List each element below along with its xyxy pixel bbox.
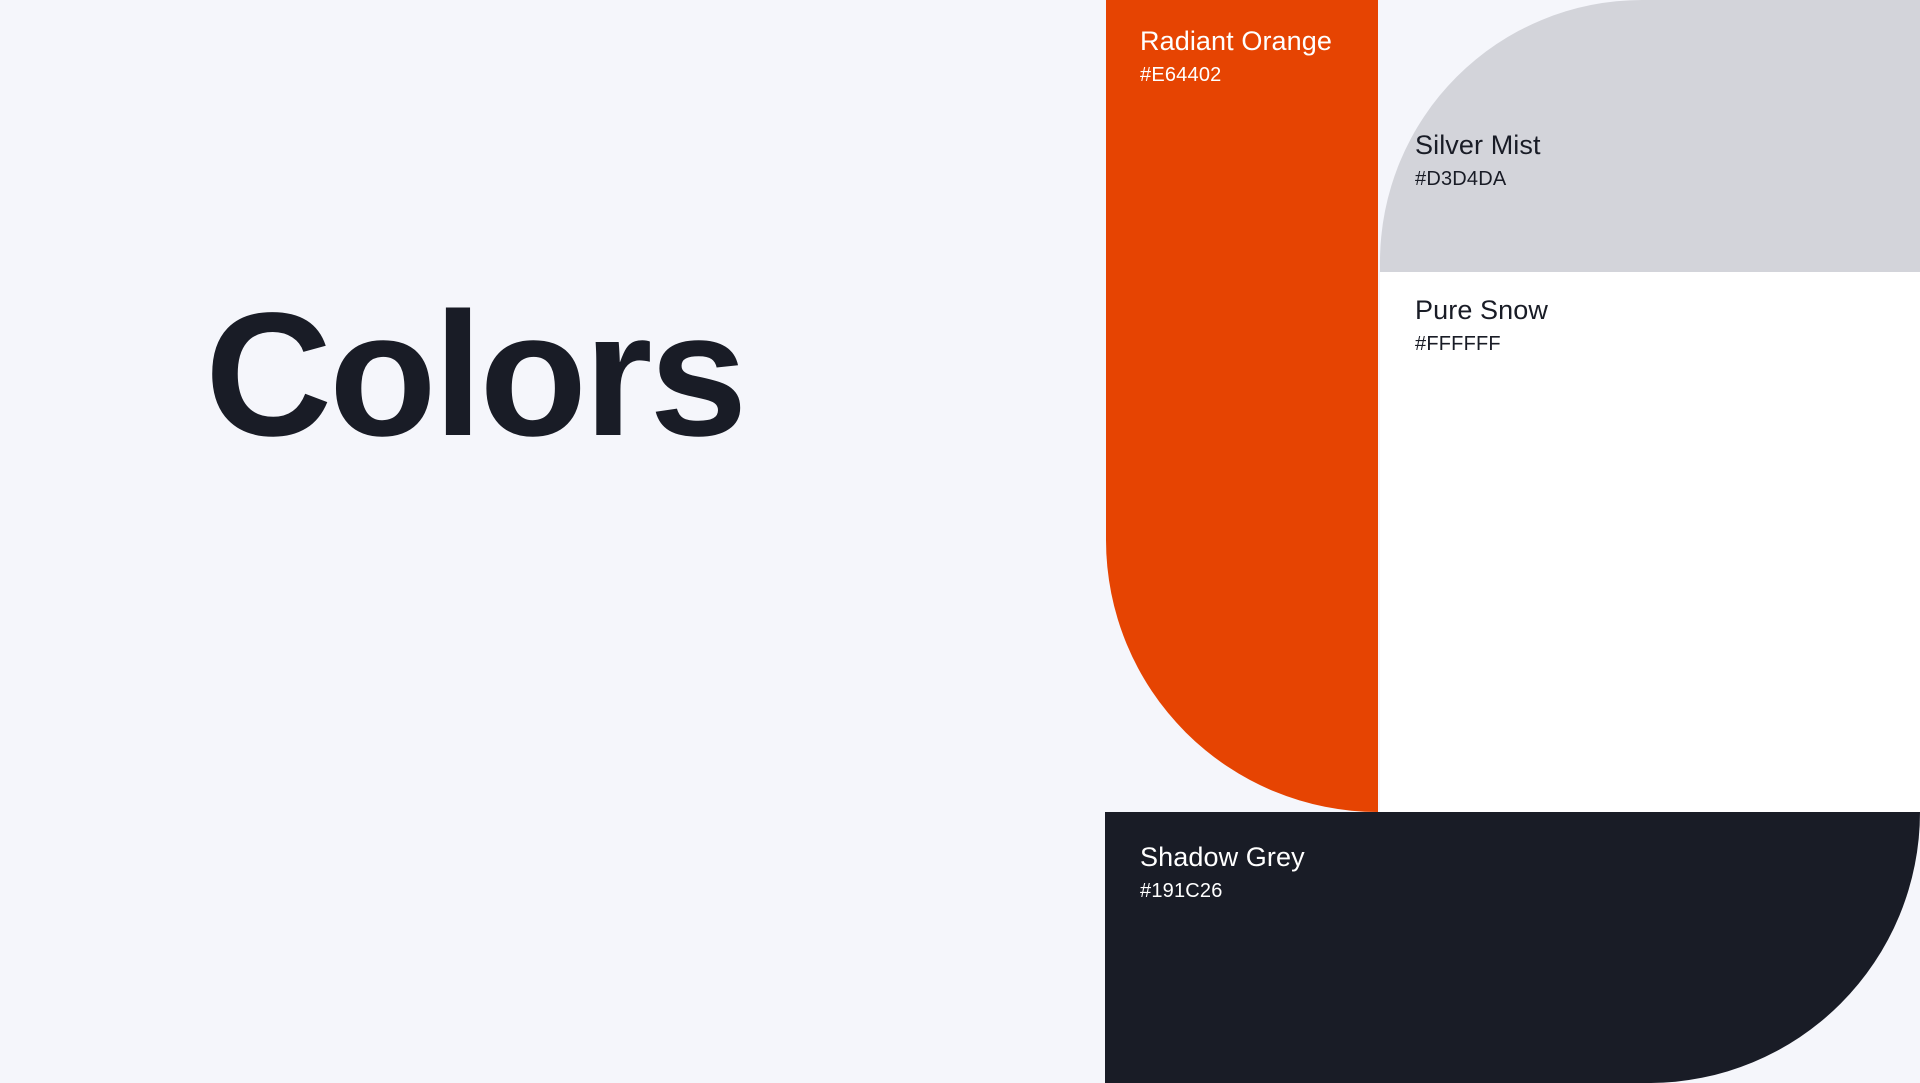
swatch-label: Radiant Orange #E64402 [1140, 24, 1470, 88]
swatch-label: Shadow Grey #191C26 [1140, 840, 1470, 904]
color-swatch-radiant-orange[interactable]: Radiant Orange #E64402 [1106, 0, 1378, 812]
title-area: Colors [0, 0, 1106, 1083]
swatch-hex-code: #FFFFFF [1415, 332, 1745, 357]
swatch-name: Silver Mist [1415, 128, 1745, 162]
swatch-hex-code: #D3D4DA [1415, 167, 1745, 192]
color-swatch-pure-snow[interactable]: Pure Snow #FFFFFF [1380, 272, 1920, 812]
swatch-name: Radiant Orange [1140, 24, 1470, 58]
swatch-label: Pure Snow #FFFFFF [1415, 293, 1745, 357]
swatch-name: Shadow Grey [1140, 840, 1470, 874]
color-swatch-shadow-grey[interactable]: Shadow Grey #191C26 [1105, 812, 1920, 1083]
swatch-name: Pure Snow [1415, 293, 1745, 327]
swatch-hex-code: #191C26 [1140, 879, 1470, 904]
swatch-label: Silver Mist #D3D4DA [1415, 128, 1745, 192]
swatch-hex-code: #E64402 [1140, 63, 1470, 88]
color-palette-canvas: Colors Radiant Orange #E64402 Silver Mis… [0, 0, 1920, 1083]
page-title: Colors [205, 283, 744, 468]
